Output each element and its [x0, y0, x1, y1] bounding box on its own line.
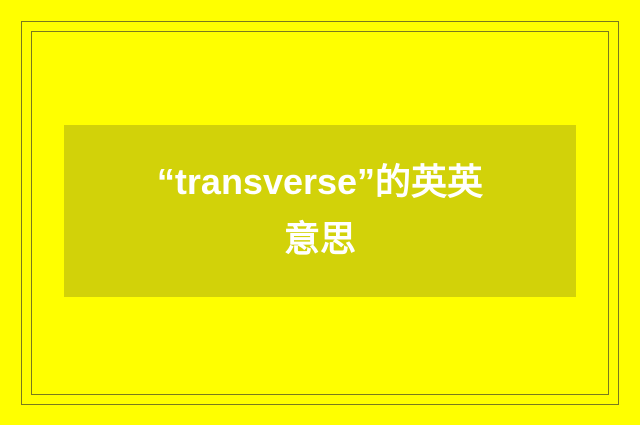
image-card-canvas: “transverse”的英英意思 [0, 0, 640, 425]
title-banner: “transverse”的英英意思 [64, 125, 576, 297]
banner-title-text: “transverse”的英英意思 [152, 154, 488, 268]
